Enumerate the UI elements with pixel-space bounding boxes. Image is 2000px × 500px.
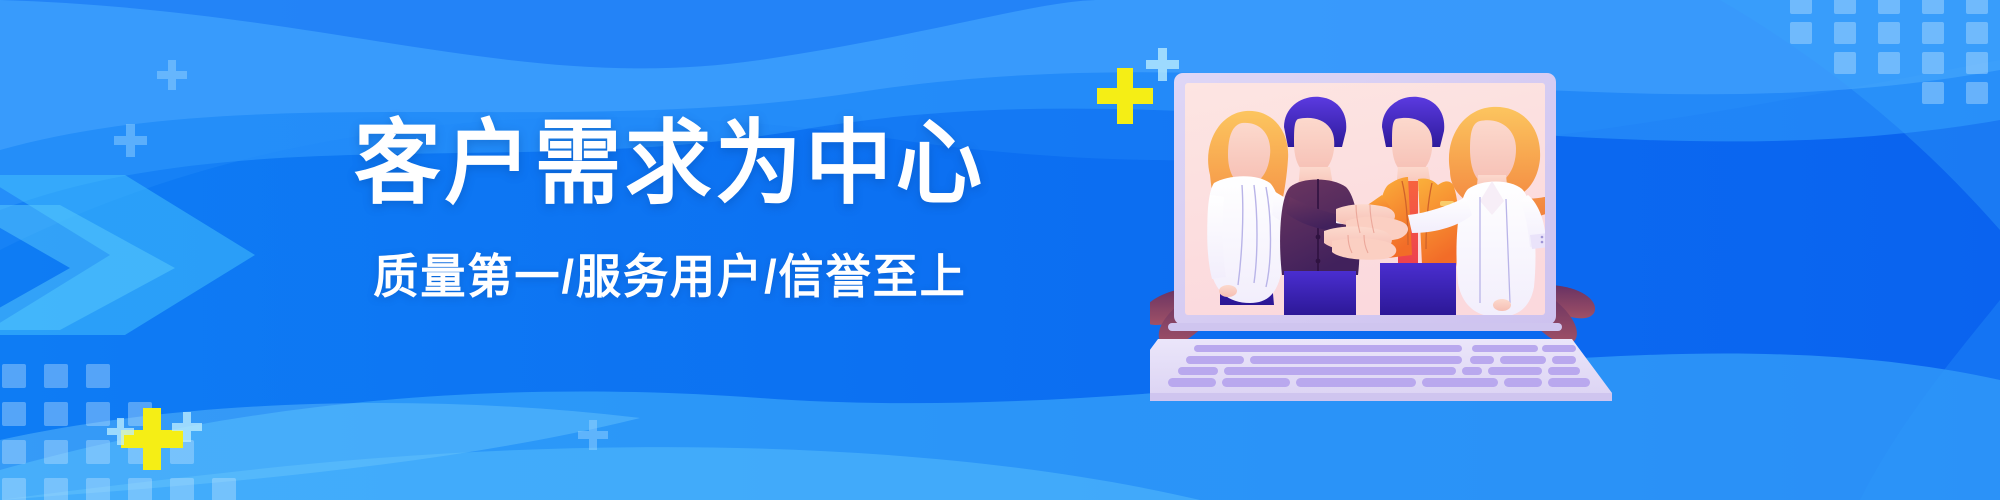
page-subtitle: 质量第一/服务用户/信誉至上 bbox=[315, 238, 1025, 307]
laptop-hinge bbox=[1168, 323, 1562, 331]
teamwork-scene bbox=[1207, 97, 1566, 317]
headline-block: 客户需求为中心 质量第一/服务用户/信誉至上 bbox=[300, 118, 1040, 307]
promo-banner: 客户需求为中心 质量第一/服务用户/信誉至上 bbox=[0, 0, 2000, 500]
laptop-illustration bbox=[1150, 55, 1620, 405]
page-title: 客户需求为中心 bbox=[322, 118, 1018, 212]
